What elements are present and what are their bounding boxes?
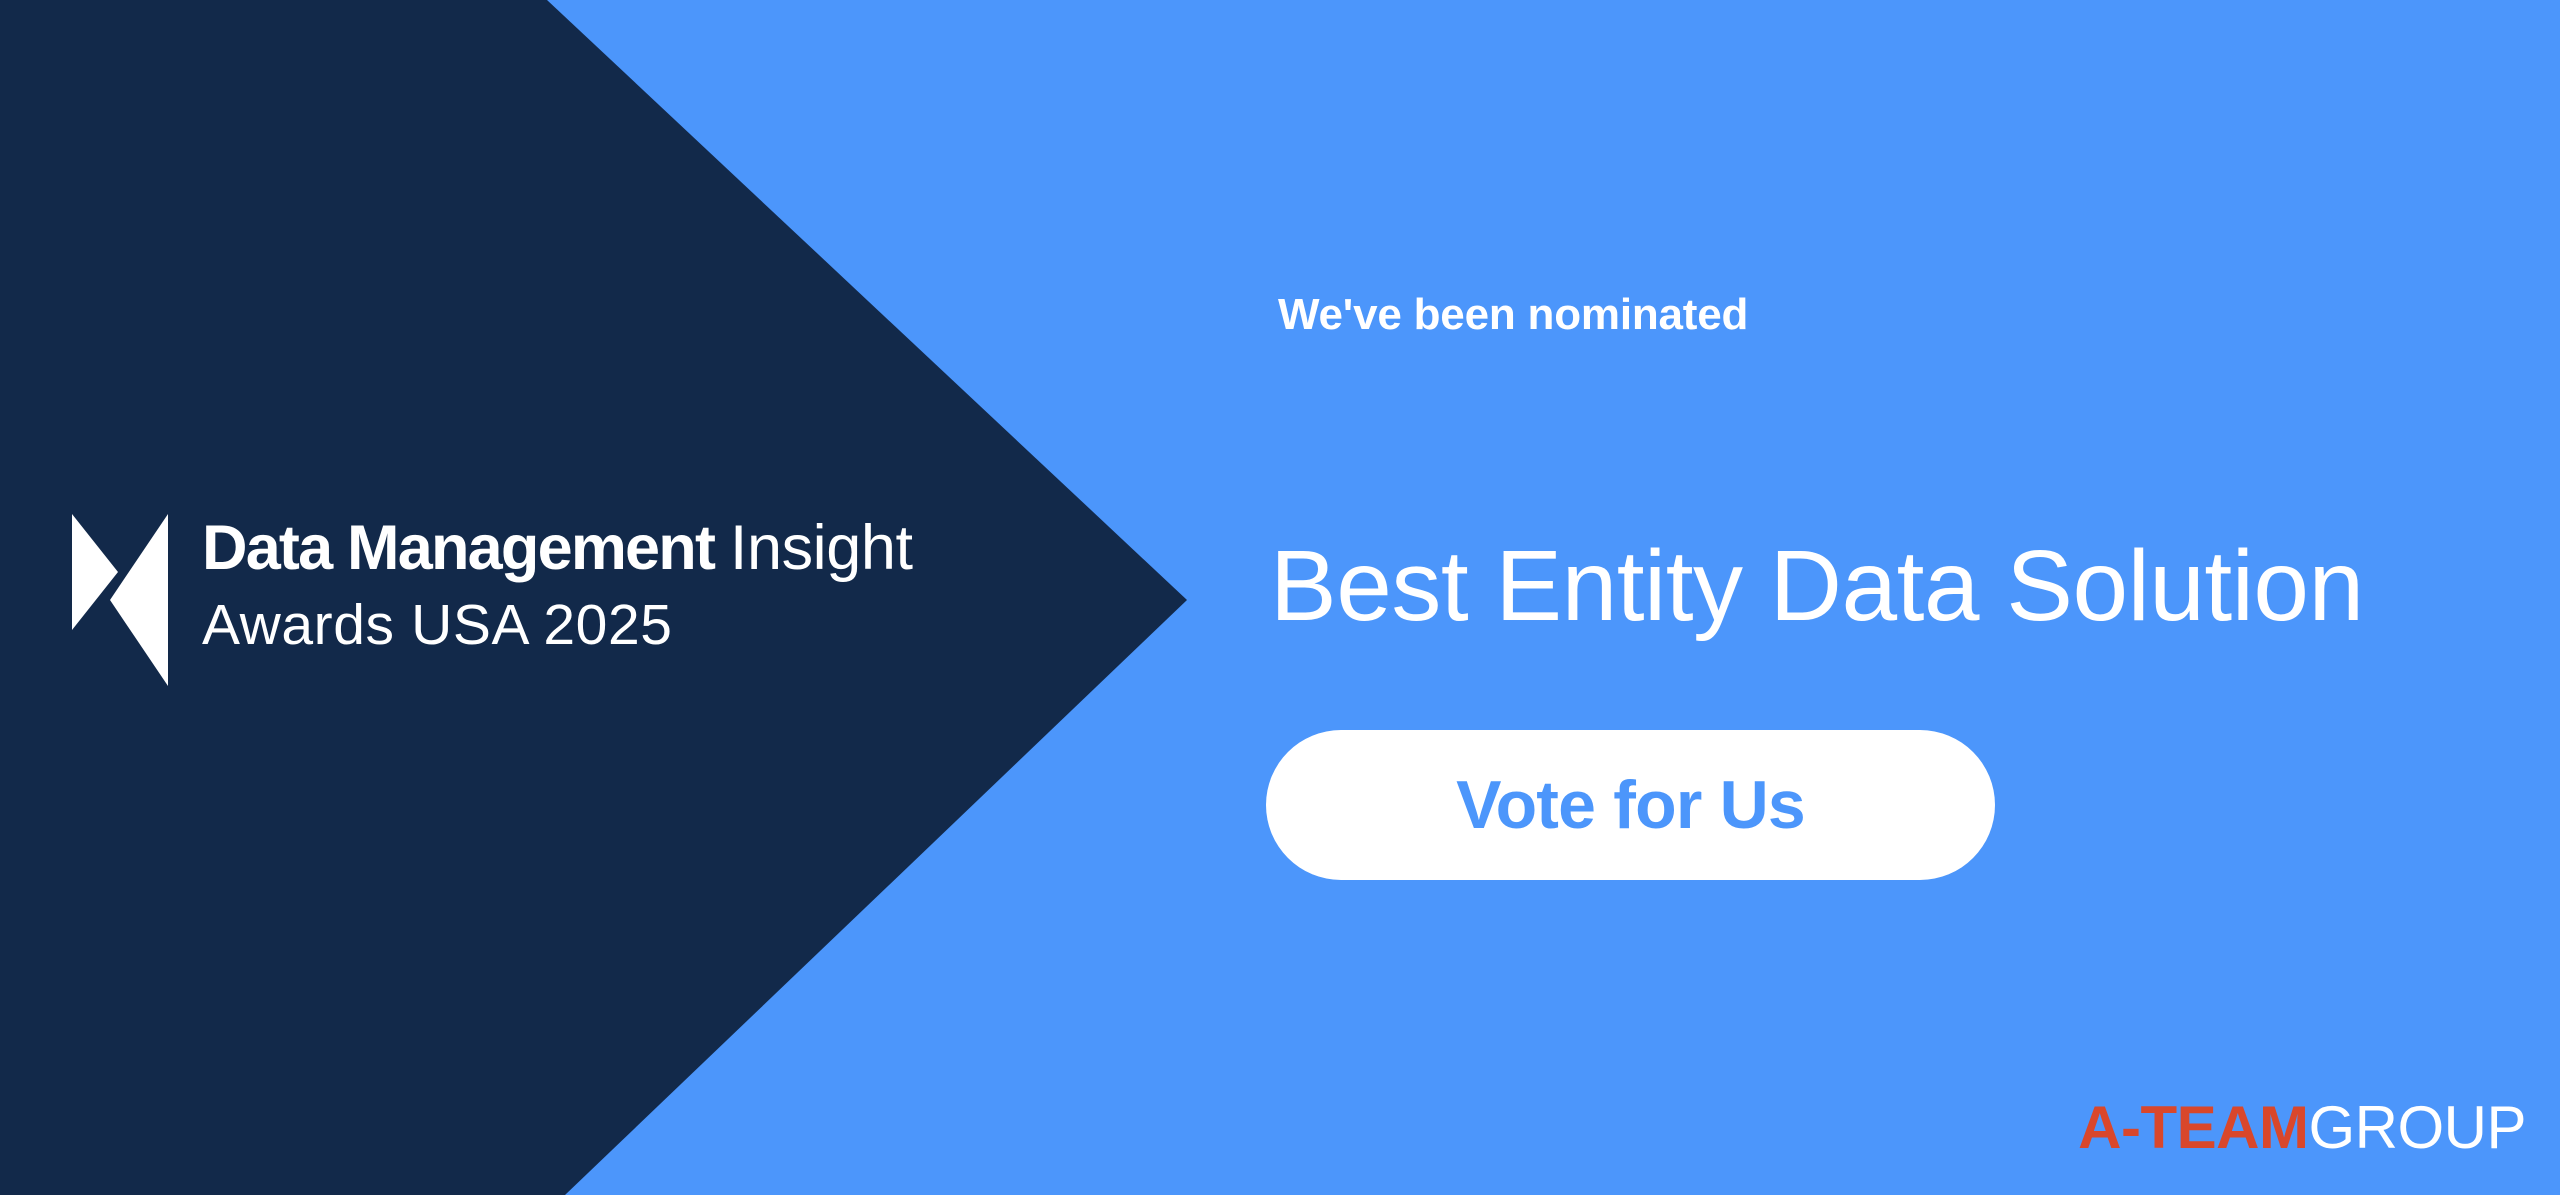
- award-category-headline: Best Entity Data Solution: [1270, 528, 2364, 644]
- double-triangle-logo-icon: [72, 514, 168, 686]
- nomination-banner: Data Management Insight Awards USA 2025 …: [0, 0, 2560, 1195]
- a-team-group-logo: A-TEAMGROUP: [2078, 1093, 2526, 1163]
- vote-for-us-button[interactable]: Vote for Us: [1266, 730, 1995, 880]
- a-team-group-logo-red-part: A-TEAM: [2078, 1094, 2308, 1161]
- award-subtitle: Awards USA 2025: [202, 592, 913, 658]
- message-column: We've been nominated Best Entity Data So…: [1270, 0, 2560, 1195]
- award-title-line: Data Management Insight: [202, 512, 913, 584]
- nominated-eyebrow-text: We've been nominated: [1278, 288, 1748, 342]
- award-logo-lockup: Data Management Insight Awards USA 2025: [72, 512, 913, 686]
- award-wordmark: Data Management Insight Awards USA 2025: [202, 512, 913, 658]
- a-team-group-logo-white-part: GROUP: [2308, 1094, 2526, 1161]
- award-title-bold: Data Management: [202, 513, 730, 583]
- award-title-light: Insight: [730, 513, 913, 583]
